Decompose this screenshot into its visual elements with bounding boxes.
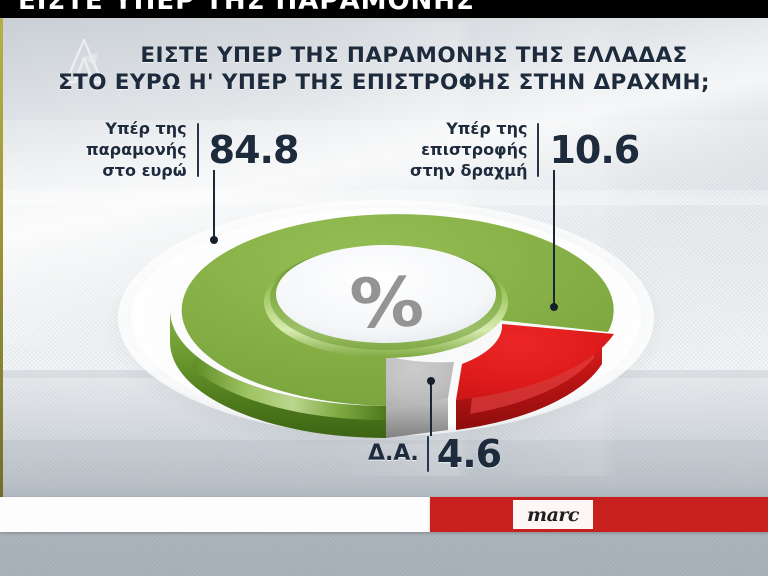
page-title: ΕΙΣΤΕ ΥΠΕΡ ΤΗΣ ΠΑΡΑΜΟΝΗΣ ΤΗΣ ΕΛΛΑΔΑΣ ΣΤΟ… xyxy=(0,42,768,96)
callout-no-answer: Δ.Α. 4.6 xyxy=(368,432,501,476)
headline-line-2: ΣΤΟ ΕΥΡΩ Η' ΥΠΕΡ ΤΗΣ ΕΠΙΣΤΡΟΦΗΣ ΣΤΗΝ ΔΡΑ… xyxy=(0,69,768,96)
callout-value-return-to-drachma: 10.6 xyxy=(549,128,639,172)
callout-label-stay-in-euro: Υπέρ της παραμονής στο ευρώ xyxy=(86,118,187,181)
callout-label-line-2: παραμονής xyxy=(86,139,187,160)
ticker-red-strip xyxy=(430,497,768,532)
leader-line-stem xyxy=(430,381,432,436)
callout-divider xyxy=(427,436,429,472)
marc-logo-text: marc xyxy=(527,504,579,526)
callout-return-to-drachma: Υπέρ της επιστροφής στην δραχμή 10.6 xyxy=(410,118,639,181)
percent-symbol: % xyxy=(348,262,425,344)
headline-line-1: ΕΙΣΤΕ ΥΠΕΡ ΤΗΣ ΠΑΡΑΜΟΝΗΣ ΤΗΣ ΕΛΛΑΔΑΣ xyxy=(0,42,768,69)
callout-label-line-2: επιστροφής xyxy=(410,139,527,160)
callout-label-return-to-drachma: Υπέρ της επιστροφής στην δραχμή xyxy=(410,118,527,181)
callout-stay-in-euro: Υπέρ της παραμονής στο ευρώ 84.8 xyxy=(86,118,298,181)
donut-chart: % xyxy=(74,176,694,444)
callout-divider xyxy=(197,123,199,177)
leader-line-stem xyxy=(553,170,555,309)
top-letterbox: ΕΙΣΤΕ ΥΠΕΡ ΤΗΣ ΠΑΡΑΜΟΝΗΣ xyxy=(0,0,768,18)
segment-gray-top xyxy=(386,356,454,406)
clipped-headline: ΕΙΣΤΕ ΥΠΕΡ ΤΗΣ ΠΑΡΑΜΟΝΗΣ xyxy=(18,0,475,16)
callout-label-no-answer: Δ.Α. xyxy=(368,441,419,467)
leader-line-dot xyxy=(210,236,218,244)
callout-label-line-1: Υπέρ της xyxy=(86,118,187,139)
callout-value-no-answer: 4.6 xyxy=(437,432,501,476)
callout-label-line-3: στην δραχμή xyxy=(410,160,527,181)
callout-value-stay-in-euro: 84.8 xyxy=(209,128,299,172)
broadcast-graphic: ΕΙΣΤΕ ΥΠΕΡ ΤΗΣ ΠΑΡΑΜΟΝΗΣ ΕΙΣΤΕ ΥΠΕΡ ΤΗΣ … xyxy=(0,0,768,576)
callout-divider xyxy=(537,123,539,177)
bottom-ticker-bar: marc xyxy=(0,497,768,532)
ticker-white-strip xyxy=(0,497,430,532)
marc-logo: marc xyxy=(513,500,593,529)
callout-label-line-3: στο ευρώ xyxy=(86,160,187,181)
leader-line-dot xyxy=(427,377,435,385)
callout-label-line-1: Υπέρ της xyxy=(410,118,527,139)
leader-line-dot xyxy=(550,303,558,311)
